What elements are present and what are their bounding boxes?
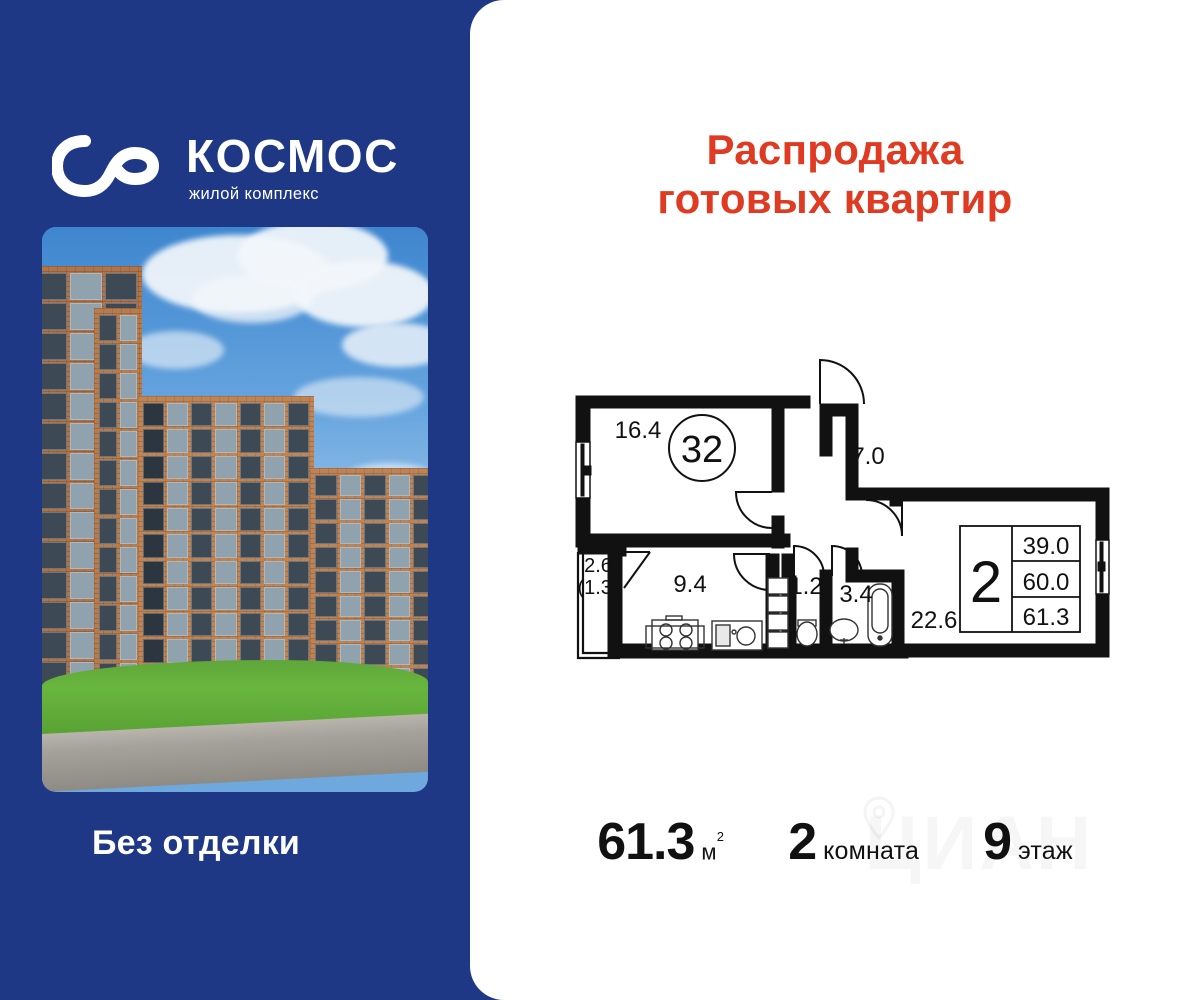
kitchen-sink-icon (712, 621, 762, 650)
toilet-icon (797, 620, 817, 646)
building-block-a (94, 308, 142, 696)
wall (576, 534, 790, 547)
brand-subtitle: жилой комплекс (189, 186, 399, 203)
left-brand-panel: КОСМОС жилой комплекс (0, 0, 470, 1000)
area-living-room: 16.4 (615, 417, 662, 444)
area-hall: 7.0 (851, 443, 884, 470)
brand-text: КОСМОС жилой комплекс (186, 129, 399, 203)
window-second-room (1096, 540, 1109, 594)
area-second-room: 22.6 (911, 607, 958, 634)
window-living-room (576, 442, 591, 498)
apartment-number-badge: 32 (669, 415, 735, 481)
wall (578, 546, 612, 554)
wall (892, 570, 904, 652)
washbasin-icon (830, 619, 858, 644)
brand-logo: КОСМОС жилой комплекс (52, 118, 442, 214)
apartment-number: 32 (681, 429, 723, 471)
cloud (192, 275, 312, 323)
infinity-icon (52, 131, 168, 201)
stat-floor-value: 9 (983, 812, 1011, 872)
stat-floor: 9 этаж (983, 812, 1073, 872)
stat-area: 61.3 м2 (597, 812, 724, 872)
stat-area-unit-sup: 2 (717, 829, 724, 844)
area-toilet: 1.2 (789, 573, 822, 600)
cloud (294, 261, 428, 327)
finish-label: Без отделки (92, 824, 300, 863)
stat-rooms-unit: комната (823, 837, 919, 866)
stat-area-value: 61.3 (597, 812, 694, 872)
headline-line-1: Распродажа (707, 126, 964, 173)
door-living-room (736, 492, 772, 528)
area-bathroom: 3.4 (839, 581, 872, 608)
apartment-stats: 61.3 м2 2 комната 9 этаж (470, 812, 1200, 892)
stat-rooms: 2 комната (788, 812, 919, 872)
page-title: Распродажа готовых квартир (470, 126, 1200, 223)
door-entry (820, 360, 864, 404)
cloud (128, 331, 224, 369)
stat-rooms-value: 2 (788, 812, 816, 872)
area-balcony: 2.6 (584, 555, 612, 577)
wall (772, 516, 784, 548)
offer-card: Распродажа готовых квартир (470, 0, 1200, 1000)
stove-icon (646, 616, 704, 650)
summary-living-area: 39.0 (1023, 533, 1070, 560)
summary-total-area: 61.3 (1023, 604, 1070, 631)
area-balcony-coef: (1.3) (577, 577, 618, 599)
stat-area-unit-text: м (701, 839, 716, 864)
stat-floor-unit: этаж (1018, 837, 1073, 866)
floorplan-svg: 32 16.4 9.4 2.6 (1.3) 7.0 1.2 3.4 22.6 2 (520, 340, 1160, 720)
wall (576, 396, 784, 408)
complex-photo (42, 227, 428, 792)
floorplan: 32 16.4 9.4 2.6 (1.3) 7.0 1.2 3.4 22.6 2 (520, 340, 1160, 720)
area-kitchen: 9.4 (673, 571, 706, 598)
summary-table: 2 39.0 60.0 61.3 (960, 526, 1080, 632)
door-balcony-swing (624, 552, 650, 588)
brand-name: КОСМОС (186, 133, 399, 179)
summary-area-no-balcony: 60.0 (1023, 569, 1070, 596)
building-block-b (138, 396, 314, 696)
wall (1096, 488, 1109, 540)
wall (890, 488, 1108, 501)
headline-line-2: готовых квартир (470, 175, 1200, 224)
photo-inner (42, 227, 428, 792)
wall (576, 396, 590, 442)
wall (890, 644, 1109, 657)
summary-rooms-count: 2 (970, 550, 1002, 615)
wall (772, 402, 784, 492)
door-kitchen (734, 554, 770, 590)
stat-area-unit: м2 (701, 839, 724, 865)
